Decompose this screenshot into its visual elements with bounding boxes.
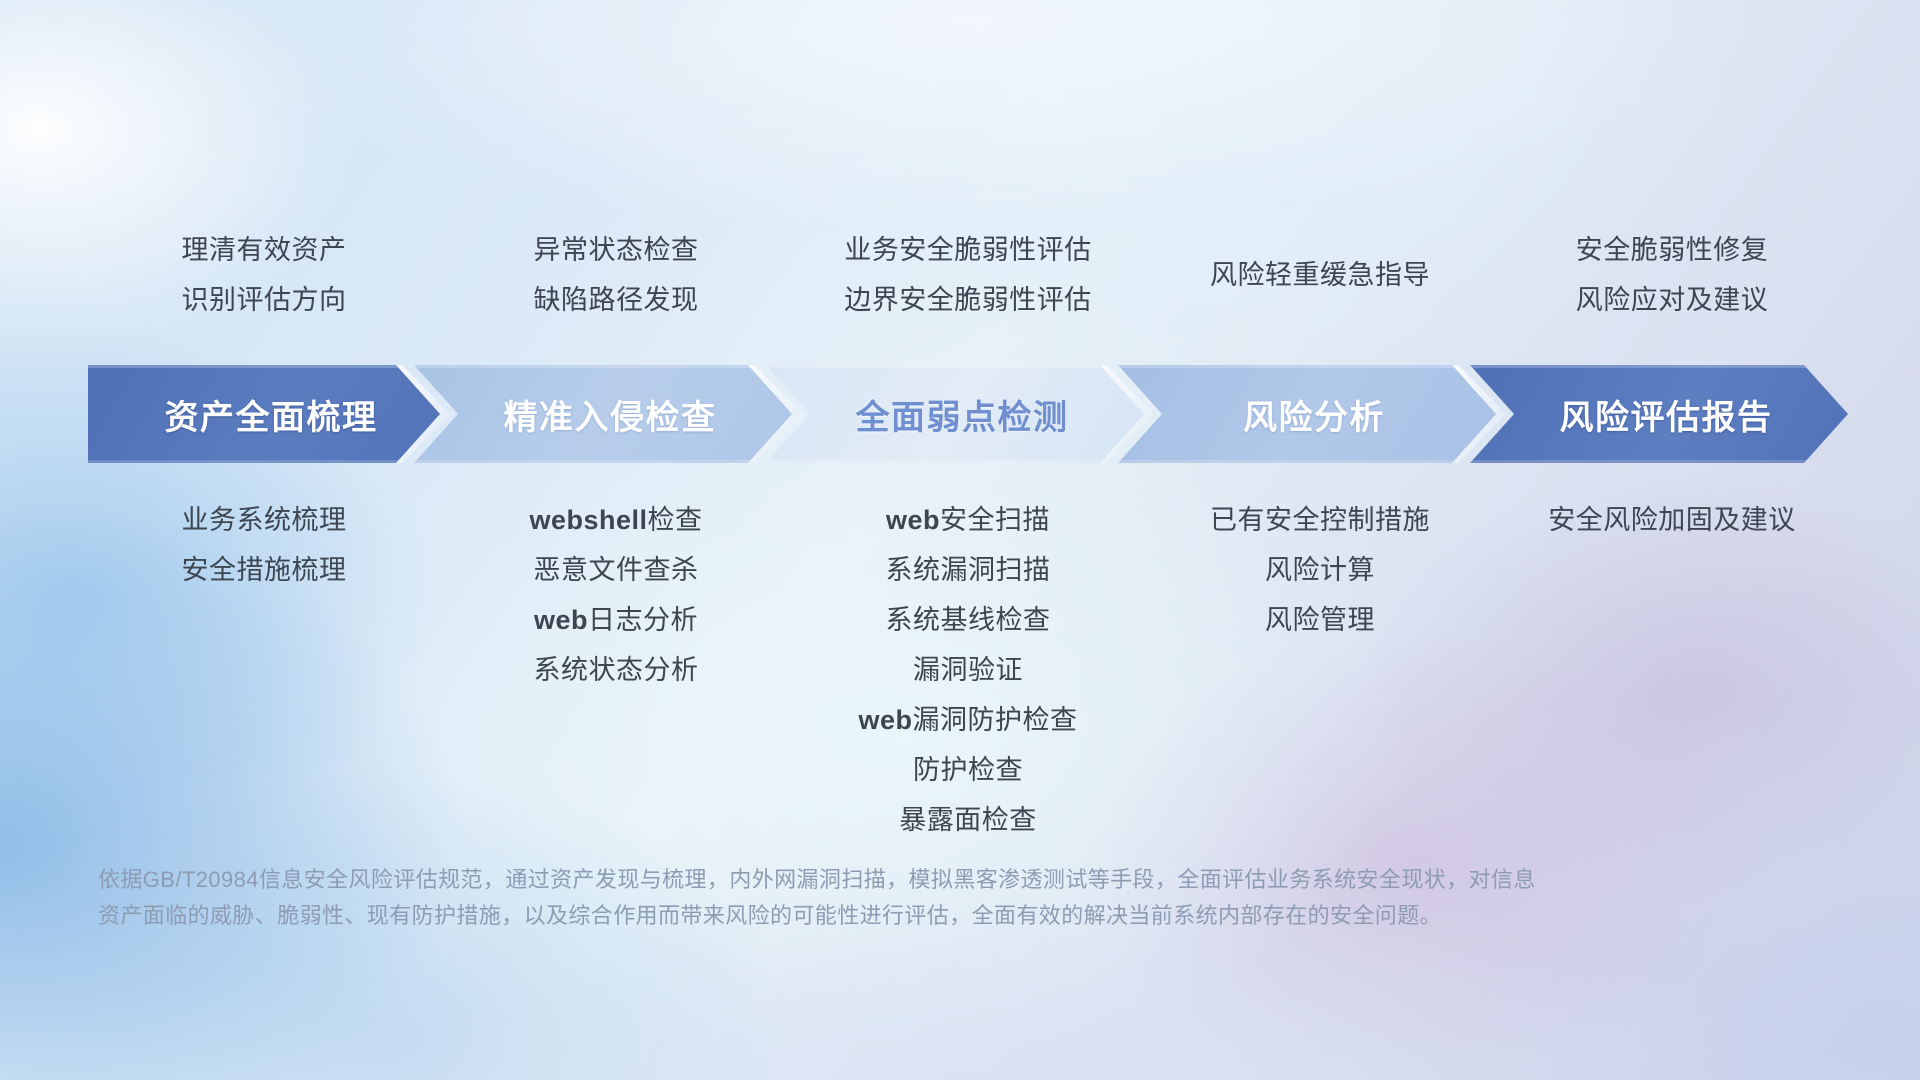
top-notes-weakness-detection: 业务安全脆弱性评估 边界安全脆弱性评估 [792, 225, 1144, 325]
list-item: 安全措施梳理 [88, 545, 440, 595]
list-item: 业务系统梳理 [88, 495, 440, 545]
list-item-latin-prefix: webshell [529, 505, 647, 535]
list-item: 风险计算 [1144, 545, 1496, 595]
list-item-text: 系统漏洞扫描 [886, 555, 1051, 585]
stage-arrow-weakness-detection[interactable]: 全面弱点检测 [766, 365, 1144, 463]
list-item-text: 风险计算 [1265, 555, 1375, 585]
bottom-items-asset-inventory: 业务系统梳理 安全措施梳理 [88, 495, 440, 595]
bottom-items-risk-analysis: 已有安全控制措施 风险计算 风险管理 [1144, 495, 1496, 645]
list-item-text: 风险管理 [1265, 605, 1375, 635]
top-note: 理清有效资产 [88, 225, 440, 275]
bottom-items-weakness-detection: web安全扫描 系统漏洞扫描 系统基线检查 漏洞验证 web漏洞防护检查 防护检… [792, 495, 1144, 845]
top-note: 边界安全脆弱性评估 [792, 275, 1144, 325]
list-item: web日志分析 [440, 595, 792, 645]
list-item: 防护检查 [792, 745, 1144, 795]
top-note: 异常状态检查 [440, 225, 792, 275]
top-note: 风险应对及建议 [1496, 275, 1848, 325]
list-item: 系统基线检查 [792, 595, 1144, 645]
list-item: 系统漏洞扫描 [792, 545, 1144, 595]
list-item-text: web漏洞防护检查 [858, 705, 1077, 735]
list-item-text: 恶意文件查杀 [534, 555, 699, 585]
top-notes-assessment-report: 安全脆弱性修复 风险应对及建议 [1496, 225, 1848, 325]
list-item-latin-prefix: web [886, 505, 940, 535]
list-item: 暴露面检查 [792, 795, 1144, 845]
top-notes-asset-inventory: 理清有效资产 识别评估方向 [88, 225, 440, 325]
list-item: 安全风险加固及建议 [1496, 495, 1848, 545]
footer-line: 依据GB/T20984信息安全风险评估规范，通过资产发现与梳理，内外网漏洞扫描，… [98, 862, 1608, 898]
list-item-text: 暴露面检查 [899, 805, 1037, 835]
footer-line: 资产面临的威胁、脆弱性、现有防护措施，以及综合作用而带来风险的可能性进行评估，全… [98, 898, 1608, 934]
list-item-text: 系统基线检查 [886, 605, 1051, 635]
list-item-text: webshell检查 [529, 505, 702, 535]
process-infographic: 理清有效资产 识别评估方向 异常状态检查 缺陷路径发现 业务安全脆弱性评估 边界… [0, 0, 1920, 1080]
footer-description: 依据GB/T20984信息安全风险评估规范，通过资产发现与梳理，内外网漏洞扫描，… [98, 862, 1608, 934]
stage-arrow-band: 资产全面梳理 精准入侵检查 全面弱点检测 风险分析 风险评估报告 [88, 365, 1848, 463]
stage-arrow-label: 风险评估报告 [1546, 390, 1773, 439]
list-item-latin-prefix: web [858, 705, 912, 735]
stage-arrow-risk-analysis[interactable]: 风险分析 [1118, 365, 1496, 463]
stage-arrow-label: 精准入侵检查 [490, 390, 717, 439]
stage-arrow-intrusion-check[interactable]: 精准入侵检查 [414, 365, 792, 463]
bottom-items-intrusion-check: webshell检查 恶意文件查杀 web日志分析 系统状态分析 [440, 495, 792, 695]
list-item-text: 系统状态分析 [534, 655, 699, 685]
list-item-text: 已有安全控制措施 [1210, 505, 1430, 535]
top-note: 识别评估方向 [88, 275, 440, 325]
stage-arrow-label: 风险分析 [1229, 390, 1385, 439]
list-item-text: 安全风险加固及建议 [1548, 505, 1796, 535]
top-note: 业务安全脆弱性评估 [792, 225, 1144, 275]
stage-arrow-assessment-report[interactable]: 风险评估报告 [1470, 365, 1848, 463]
list-item: 已有安全控制措施 [1144, 495, 1496, 545]
list-item: web安全扫描 [792, 495, 1144, 545]
list-item-text: 安全措施梳理 [182, 555, 347, 585]
top-note: 安全脆弱性修复 [1496, 225, 1848, 275]
stage-arrow-label: 全面弱点检测 [842, 390, 1069, 439]
top-notes-intrusion-check: 异常状态检查 缺陷路径发现 [440, 225, 792, 325]
list-item-text: web日志分析 [534, 605, 698, 635]
list-item: 系统状态分析 [440, 645, 792, 695]
list-item-text: web安全扫描 [886, 505, 1050, 535]
stage-arrow-label: 资产全面梳理 [151, 390, 378, 439]
bottom-items-row: 业务系统梳理 安全措施梳理 webshell检查 恶意文件查杀 web日志分析 … [88, 495, 1848, 845]
top-notes-risk-analysis: 风险轻重缓急指导 [1144, 225, 1496, 300]
stage-arrow-asset-inventory[interactable]: 资产全面梳理 [88, 365, 440, 463]
bottom-items-assessment-report: 安全风险加固及建议 [1496, 495, 1848, 545]
list-item: 恶意文件查杀 [440, 545, 792, 595]
top-note: 缺陷路径发现 [440, 275, 792, 325]
list-item-text: 业务系统梳理 [182, 505, 347, 535]
top-note: 风险轻重缓急指导 [1144, 225, 1496, 300]
list-item-latin-prefix: web [534, 605, 588, 635]
list-item-text: 防护检查 [913, 755, 1023, 785]
list-item-text: 漏洞验证 [913, 655, 1023, 685]
list-item: web漏洞防护检查 [792, 695, 1144, 745]
top-notes-row: 理清有效资产 识别评估方向 异常状态检查 缺陷路径发现 业务安全脆弱性评估 边界… [88, 225, 1848, 325]
list-item: webshell检查 [440, 495, 792, 545]
list-item: 漏洞验证 [792, 645, 1144, 695]
list-item: 风险管理 [1144, 595, 1496, 645]
